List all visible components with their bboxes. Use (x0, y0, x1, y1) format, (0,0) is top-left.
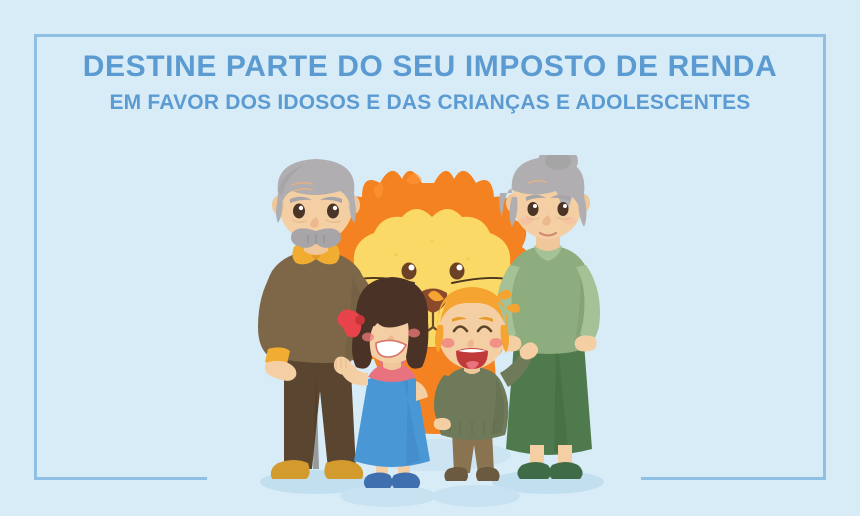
frame-top-border (34, 34, 826, 37)
grandfather-shoe-left (271, 460, 310, 479)
family-illustration (228, 155, 648, 516)
frame-right-border (823, 34, 826, 480)
boy-left-hand (434, 418, 451, 430)
frame-bottom-right-border (641, 477, 826, 480)
grandmother-right-hand (575, 335, 597, 351)
banner-title: DESTINE PARTE DO SEU IMPOSTO DE RENDA (34, 50, 826, 85)
boy-shoe-left (444, 467, 468, 481)
grandmother-eye-left (528, 202, 539, 216)
girl-shoe-right (392, 473, 421, 489)
grandmother-shoe-right (549, 462, 583, 479)
grandfather-shoe-right (324, 460, 363, 479)
banner-subtitle: EM FAVOR DOS IDOSOS E DAS CRIANÇAS E ADO… (34, 91, 826, 115)
grandmother-eye-right (558, 202, 569, 216)
grandmother-skirt (506, 338, 592, 455)
frame-left-border (34, 34, 37, 480)
grandfather-eye-right (327, 204, 339, 219)
headline-block: DESTINE PARTE DO SEU IMPOSTO DE RENDA EM… (34, 50, 826, 115)
grandfather-eye-left (293, 204, 305, 219)
banner-root: DESTINE PARTE DO SEU IMPOSTO DE RENDA EM… (0, 0, 860, 516)
frame-bottom-left-border (34, 477, 207, 480)
grandmother-shoe-left (517, 462, 551, 479)
girl-shoe-left (364, 473, 393, 489)
grandmother-character (496, 155, 600, 479)
boy-shoe-right (476, 467, 500, 481)
